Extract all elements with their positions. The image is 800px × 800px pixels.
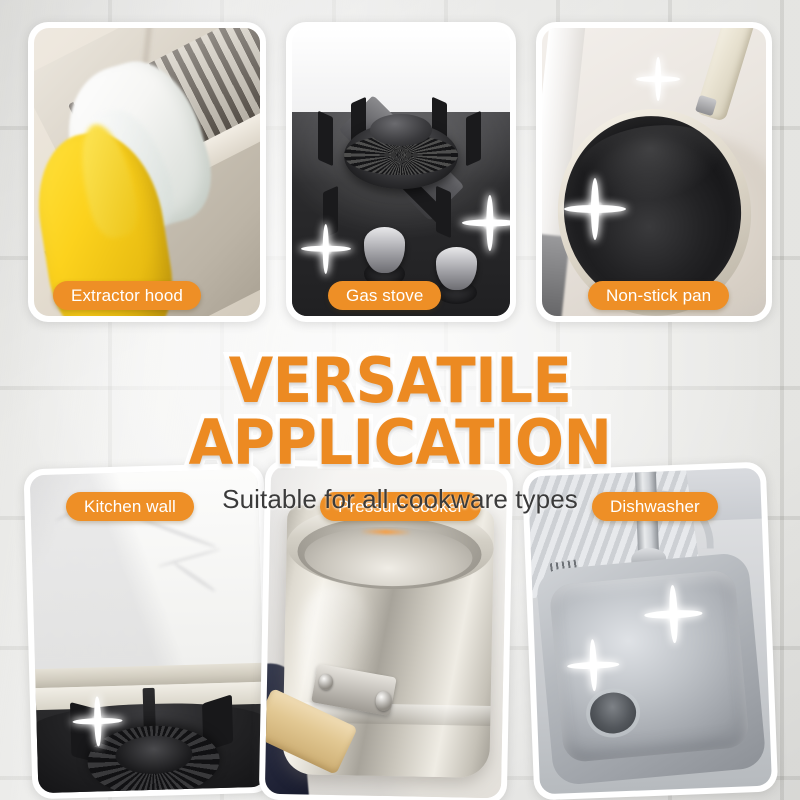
page-subtitle: Suitable for all cookware types [0,484,800,515]
label-text: Gas stove [346,286,423,306]
handle-rivet [375,691,392,711]
panel-gas-stove[interactable] [286,22,516,322]
trivet-arm [436,186,451,239]
photo-extractor-hood [34,28,260,316]
label-non-stick-pan[interactable]: Non-stick pan [588,281,729,310]
trivet-arm [318,111,333,167]
stove-backsplash [292,28,510,117]
headline-block: VERSATILE APPLICATION Suitable for all c… [0,350,800,515]
label-text: Extractor hood [71,286,183,306]
trivet-arm [323,186,338,239]
versatile-application-poster: Extractor hood Gas stove [0,0,800,800]
panel-non-stick-pan[interactable] [536,22,772,322]
photo-gas-stove [292,28,510,316]
label-gas-stove[interactable]: Gas stove [328,281,441,310]
panel-extractor-hood[interactable] [28,22,266,322]
sparkle-icon [636,57,680,101]
trivet-arm [466,111,481,167]
photo-non-stick-pan [542,28,766,316]
sink-basin-inner [549,569,750,763]
page-title: VERSATILE APPLICATION [28,350,772,474]
label-extractor-hood[interactable]: Extractor hood [53,281,201,310]
label-text: Non-stick pan [606,286,711,306]
burner-cap [370,114,431,146]
